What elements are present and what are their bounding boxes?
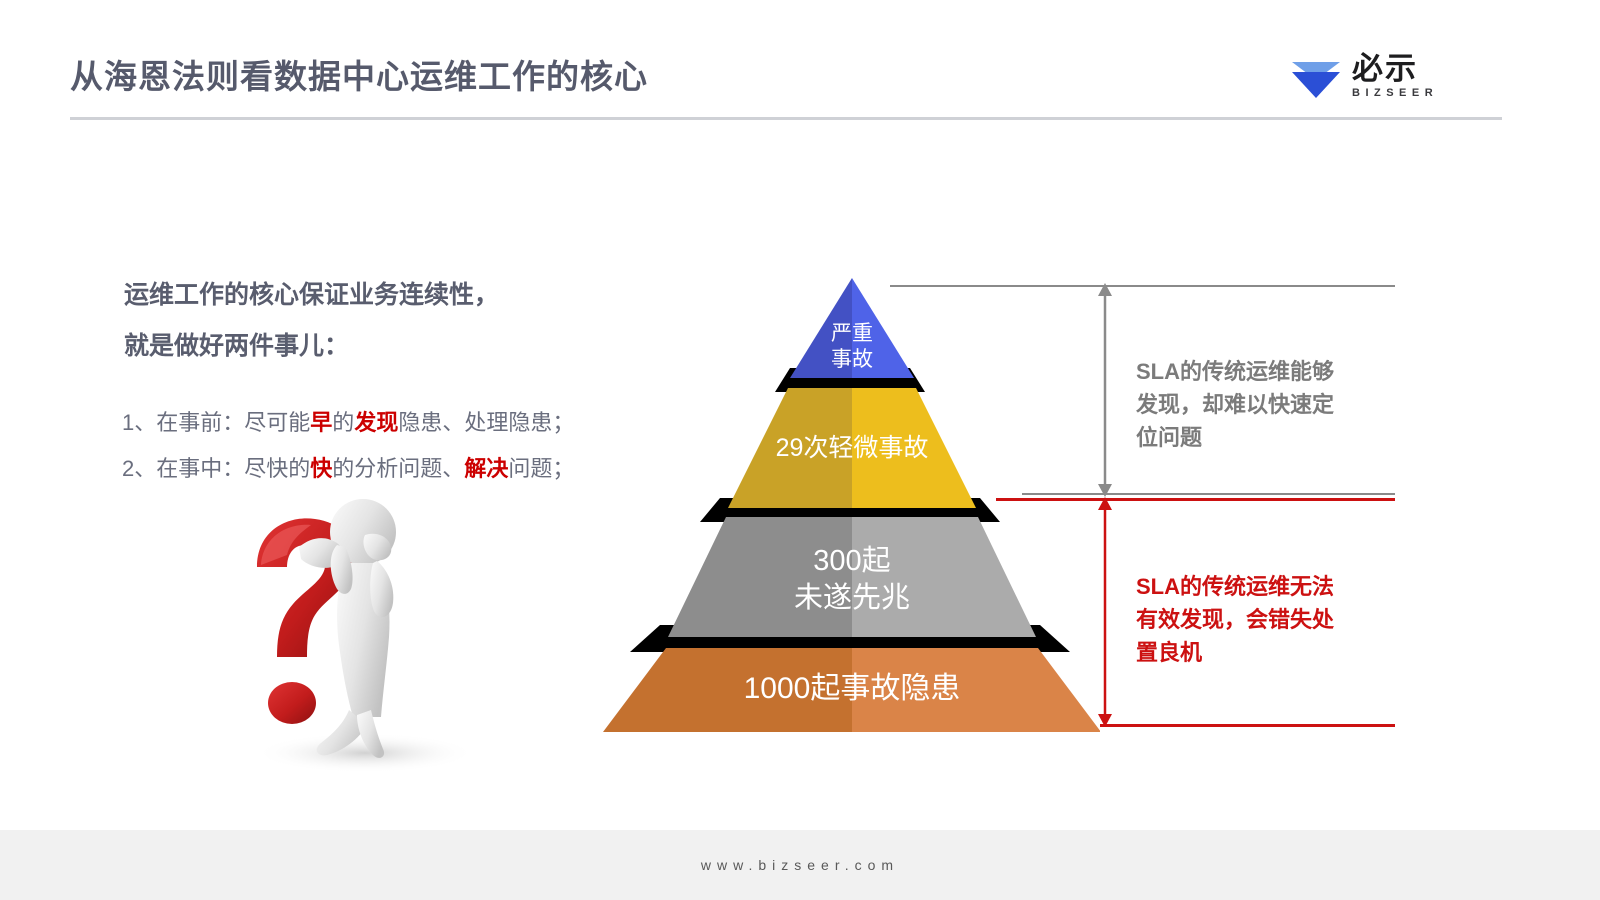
bullet-2-seg3: 问题；: [508, 456, 574, 481]
pyramid-level-severe-label-2: 事故: [831, 348, 873, 371]
bullet-2-index: 2、: [122, 456, 156, 481]
pyramid-level-nearmiss-label-2: 未遂先兆: [794, 581, 910, 614]
page-title: 从海恩法则看数据中心运维工作的核心: [70, 50, 648, 98]
pyramid-level-nearmiss-label-1: 300起: [813, 544, 890, 577]
measure-arrow-top-icon: [1085, 283, 1125, 497]
annotation-top-line-3: 位问题: [1136, 421, 1396, 454]
bullet-2-highlight-1: 快: [310, 456, 332, 481]
annotation-bottom: SLA的传统运维无法 有效发现，会错失处 置良机: [1136, 570, 1396, 669]
hazard-pyramid-chart: 严重 事故 29次轻微事故 300起 未遂先兆 1000起事故隐患: [600, 270, 1100, 740]
bullet-1-highlight-2: 发现: [354, 410, 398, 435]
bullet-1-seg2: 的: [332, 410, 354, 435]
bullet-1-highlight-1: 早: [310, 410, 332, 435]
logo-name-cn: 必示: [1352, 52, 1482, 86]
annotation-bottom-line-1: SLA的传统运维无法: [1136, 570, 1396, 603]
pyramid-level-nearmiss: 300起 未遂先兆: [668, 517, 1036, 637]
pyramid-level-severe-label-1: 严重: [831, 322, 873, 345]
slide-canvas: 从海恩法则看数据中心运维工作的核心 必示 BIZSEER 运维工作的核心保证业务…: [0, 0, 1600, 900]
bullet-2-seg2: 的分析问题、: [332, 456, 464, 481]
annotation-top-line-1: SLA的传统运维能够: [1136, 355, 1396, 388]
brand-logo: 必示 BIZSEER: [1290, 52, 1490, 107]
bracket-line-middle-gray: [1022, 493, 1395, 495]
pyramid-level-severe: 严重 事故: [790, 278, 914, 378]
annotation-bottom-line-2: 有效发现，会错失处: [1136, 603, 1396, 636]
bullet-2-highlight-2: 解决: [464, 456, 508, 481]
title-divider: [70, 117, 1502, 120]
annotation-top: SLA的传统运维能够 发现，却难以快速定 位问题: [1136, 355, 1396, 454]
bullet-2-seg1: 尽快的: [244, 456, 310, 481]
measure-arrow-bottom-icon: [1085, 497, 1125, 727]
pyramid-level-hazard: 1000起事故隐患: [603, 648, 1100, 732]
pyramid-level-hazard-label: 1000起事故隐患: [744, 672, 961, 705]
bullet-2-label: 在事中：: [156, 456, 244, 481]
bullet-1-seg1: 尽可能: [244, 410, 310, 435]
pyramid-level-minor-label: 29次轻微事故: [776, 434, 929, 462]
bracket-line-middle-red: [996, 498, 1395, 501]
pyramid-level-nearmiss-left: [668, 517, 852, 637]
bizseer-chevron-icon: [1290, 60, 1342, 100]
bullet-1-seg3: 隐患、处理隐患；: [398, 410, 574, 435]
pyramid-level-minor: 29次轻微事故: [728, 388, 976, 508]
bullet-1-index: 1、: [122, 410, 156, 435]
question-mark-dot: [268, 682, 316, 724]
bullet-1-label: 在事前：: [156, 410, 244, 435]
bracket-line-bottom-red: [1100, 724, 1395, 727]
footer-bar: www.bizseer.com: [0, 830, 1600, 900]
bracket-line-top: [890, 285, 1395, 287]
footer-url: www.bizseer.com: [701, 857, 899, 873]
annotation-bottom-line-3: 置良机: [1136, 636, 1396, 669]
logo-name-en: BIZSEER: [1352, 86, 1482, 100]
thinking-person-illustration: [225, 485, 490, 775]
annotation-top-line-2: 发现，却难以快速定: [1136, 388, 1396, 421]
logo-text: 必示 BIZSEER: [1352, 52, 1482, 100]
pyramid-level-nearmiss-right: [852, 517, 1036, 637]
figure-right-arm: [370, 561, 393, 617]
